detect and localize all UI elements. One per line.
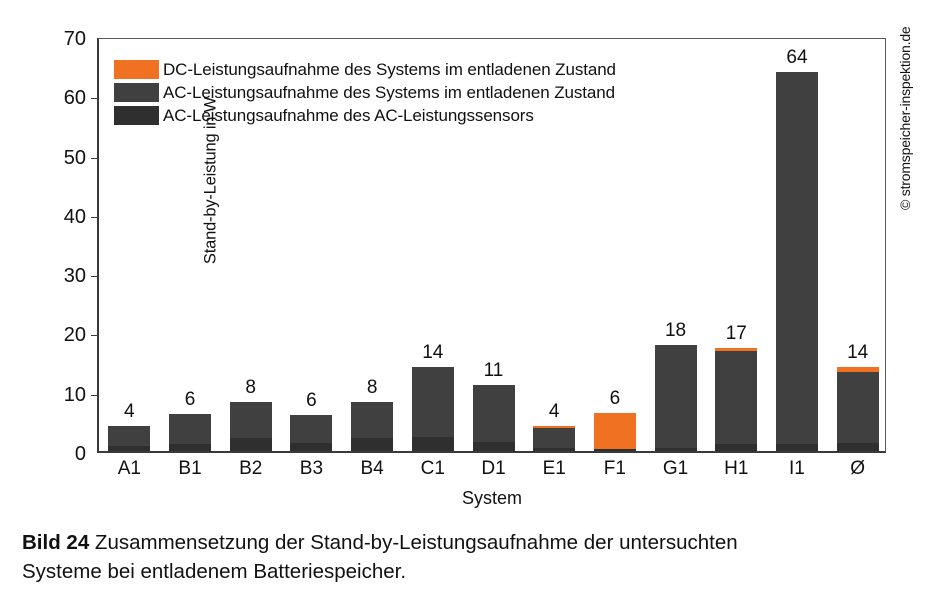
- x-axis-tick-label-a1: A1: [118, 459, 141, 478]
- legend-label-ac-sensor: AC-Leistungsaufnahme des AC-Leistungssen…: [163, 106, 534, 126]
- x-axis-title: System: [99, 488, 885, 509]
- legend-item-ac-system: AC-Leistungsaufnahme des Systems im entl…: [114, 81, 616, 104]
- caption-line-2: Systeme bei entladenem Batteriespeicher.: [22, 557, 914, 586]
- x-axis-tick-label-i1: I1: [789, 459, 805, 478]
- y-axis-tick-label: 30: [37, 266, 99, 286]
- legend-label-ac-system: AC-Leistungsaufnahme des Systems im entl…: [163, 83, 615, 103]
- bar-i1: 64: [776, 72, 818, 451]
- y-axis-tick-mark: [91, 217, 99, 218]
- bar-value-label: 6: [306, 391, 317, 410]
- legend-swatch-ac-sensor-icon: [114, 106, 159, 125]
- segment-ac-system: [108, 426, 150, 446]
- segment-ac-system: [290, 415, 332, 443]
- y-axis-tick-mark: [91, 276, 99, 277]
- segment-ac-system: [655, 345, 697, 448]
- segment-dc-system: [594, 413, 636, 449]
- x-axis-tick-label-ø: Ø: [850, 459, 865, 478]
- x-axis-tick-label-b1: B1: [178, 459, 201, 478]
- bar-c1: 14: [412, 367, 454, 451]
- segment-ac-system: [533, 428, 575, 448]
- segment-ac-system: [837, 372, 879, 443]
- segment-ac-sensor: [655, 448, 697, 451]
- bar-value-label: 6: [610, 389, 621, 408]
- chart-legend: DC-Leistungsaufnahme des Systems im entl…: [114, 58, 616, 127]
- bar-h1: 17: [715, 348, 757, 451]
- bar-a1: 4: [108, 426, 150, 451]
- x-axis-tick-label-d1: D1: [481, 459, 505, 478]
- x-axis-tick-label-g1: G1: [663, 459, 688, 478]
- legend-item-ac-sensor: AC-Leistungsaufnahme des AC-Leistungssen…: [114, 104, 616, 127]
- y-axis-tick-label: 70: [37, 29, 99, 49]
- credit-watermark: © stromspeicher-inspektion.de: [897, 0, 913, 210]
- bar-ø: 14: [837, 367, 879, 451]
- y-axis-tick-label: 40: [37, 207, 99, 227]
- x-axis-tick-label-f1: F1: [604, 459, 626, 478]
- segment-ac-sensor: [715, 444, 757, 451]
- legend-label-dc: DC-Leistungsaufnahme des Systems im entl…: [163, 60, 616, 80]
- bar-value-label: 17: [726, 324, 747, 343]
- y-axis-tick-label: 0: [37, 444, 99, 464]
- y-axis-tick-mark: [91, 335, 99, 336]
- legend-swatch-ac-system-icon: [114, 83, 159, 102]
- bar-b2: 8: [230, 402, 272, 451]
- legend-swatch-dc-icon: [114, 60, 159, 79]
- bar-value-label: 4: [124, 402, 135, 421]
- segment-ac-sensor: [412, 437, 454, 451]
- segment-ac-sensor: [230, 438, 272, 451]
- segment-ac-system: [351, 402, 393, 438]
- segment-ac-sensor: [473, 442, 515, 451]
- segment-ac-system: [169, 414, 211, 444]
- y-axis-tick-mark: [91, 395, 99, 396]
- y-axis-tick-label: 20: [37, 325, 99, 345]
- bar-value-label: 8: [245, 378, 256, 397]
- segment-ac-sensor: [533, 448, 575, 451]
- segment-ac-sensor: [837, 443, 879, 451]
- segment-ac-sensor: [776, 444, 818, 451]
- bar-b1: 6: [169, 414, 211, 451]
- segment-ac-sensor: [351, 438, 393, 451]
- bar-value-label: 18: [665, 321, 686, 340]
- bar-f1: 6: [594, 413, 636, 451]
- bar-g1: 18: [655, 345, 697, 451]
- x-axis-tick-label-b4: B4: [360, 459, 383, 478]
- bar-b4: 8: [351, 402, 393, 451]
- segment-ac-sensor: [169, 444, 211, 451]
- segment-ac-sensor: [108, 446, 150, 451]
- segment-ac-system: [230, 402, 272, 438]
- bar-value-label: 64: [786, 48, 807, 67]
- bar-d1: 11: [473, 385, 515, 451]
- x-axis-tick-label-h1: H1: [724, 459, 748, 478]
- caption-line-1: Zusammensetzung der Stand-by-Leistungsau…: [95, 531, 738, 554]
- y-axis-tick-mark: [91, 158, 99, 159]
- segment-ac-system: [412, 367, 454, 437]
- x-axis-tick-label-b3: B3: [300, 459, 323, 478]
- figure-caption: Bild 24 Zusammensetzung der Stand-by-Lei…: [22, 528, 914, 586]
- segment-ac-system: [776, 72, 818, 445]
- bar-value-label: 8: [367, 378, 378, 397]
- legend-item-dc: DC-Leistungsaufnahme des Systems im entl…: [114, 58, 616, 81]
- y-axis-tick-label: 10: [37, 385, 99, 405]
- bar-value-label: 11: [484, 361, 504, 380]
- bar-e1: 4: [533, 426, 575, 451]
- x-axis-tick-label-c1: C1: [421, 459, 445, 478]
- segment-ac-system: [715, 351, 757, 444]
- x-axis-tick-label-b2: B2: [239, 459, 262, 478]
- bar-value-label: 4: [549, 402, 560, 421]
- y-axis-tick-label: 50: [37, 148, 99, 168]
- bar-value-label: 14: [422, 343, 443, 362]
- y-axis-tick-label: 60: [37, 88, 99, 108]
- bar-b3: 6: [290, 415, 332, 451]
- chart-plot-area: Stand-by-Leistung in W 010203040506070 4…: [97, 38, 886, 453]
- segment-ac-sensor: [290, 443, 332, 451]
- caption-figure-number: Bild 24: [22, 531, 89, 554]
- x-axis-tick-label-e1: E1: [543, 459, 566, 478]
- segment-ac-system: [473, 385, 515, 441]
- segment-ac-sensor: [594, 449, 636, 451]
- bar-value-label: 6: [185, 390, 196, 409]
- figure-bild-24: Stand-by-Leistung in W 010203040506070 4…: [0, 0, 935, 616]
- y-axis-tick-mark: [91, 98, 99, 99]
- bar-value-label: 14: [847, 343, 868, 362]
